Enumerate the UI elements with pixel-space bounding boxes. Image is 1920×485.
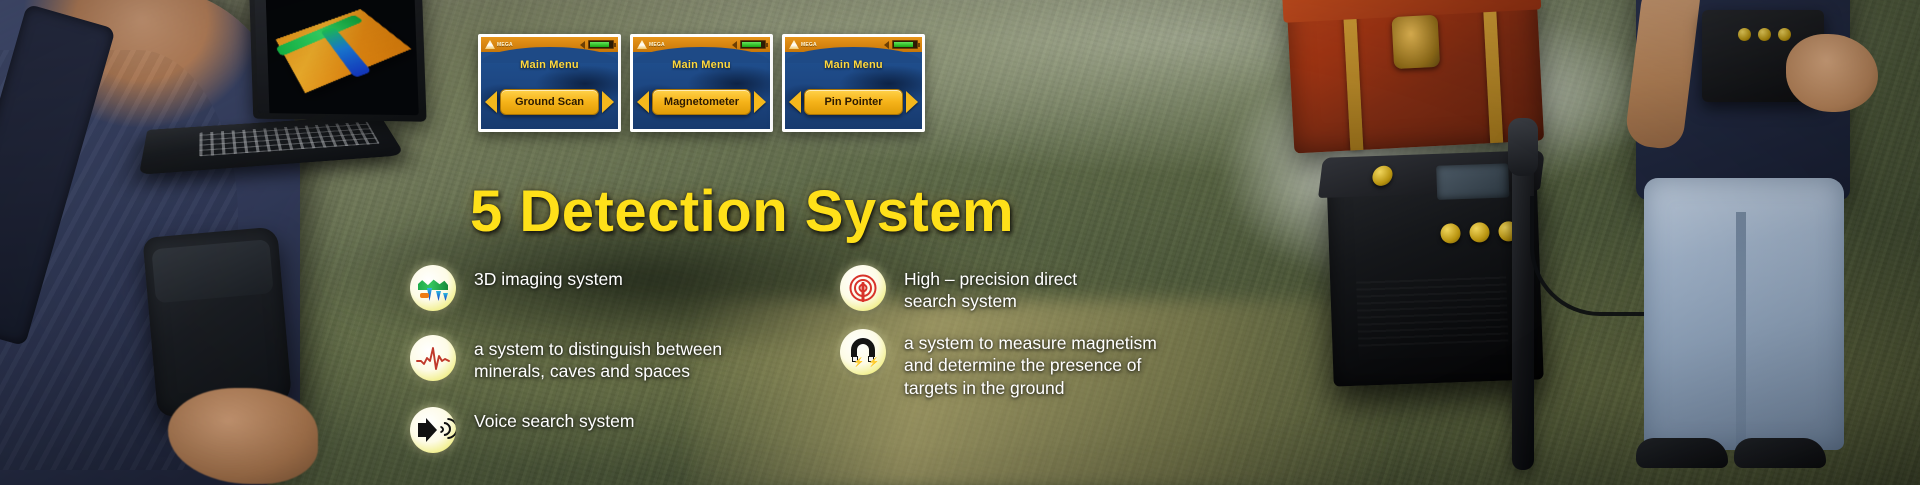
feature-column-left: 3D imaging system a system to distinguis… [410,265,782,453]
signal-target-icon [840,265,886,311]
screen-status-bar: MEGA [481,37,618,52]
feature-item-3d-imaging: 3D imaging system [410,265,782,311]
speaker-icon [580,41,585,49]
screen-status-bar: MEGA [633,37,770,52]
logo-mark-icon [485,40,495,49]
mode-button[interactable]: Pin Pointer [804,89,903,115]
next-mode-arrow-icon[interactable] [602,91,614,113]
speaker-icon [732,41,737,49]
feature-column-right: High – precision direct search system ⚡ … [840,265,1240,399]
magnet-icon: ⚡ ⚡ [840,329,886,375]
screen-title: Main Menu [785,59,922,71]
feature-label: Voice search system [474,407,634,432]
device-screen-ground-scan[interactable]: MEGA Main Menu Ground Scan [478,34,621,132]
screen-title: Main Menu [481,59,618,71]
brand-logo: MEGA [485,40,513,49]
mode-button[interactable]: Ground Scan [500,89,599,115]
mode-button[interactable]: Magnetometer [652,89,751,115]
logo-mark-icon [789,40,799,49]
feature-list: 3D imaging system a system to distinguis… [410,265,1240,453]
mode-selector-row: Pin Pointer [789,89,918,115]
feature-label: High – precision direct search system [904,265,1077,313]
device-screen-magnetometer[interactable]: MEGA Main Menu Magnetometer [630,34,773,132]
feature-item-mineral-discrimination: a system to distinguish between minerals… [410,335,782,383]
screen-status-bar: MEGA [785,37,922,52]
previous-mode-arrow-icon[interactable] [789,91,801,113]
feature-label: 3D imaging system [474,265,623,290]
feature-label: a system to distinguish between minerals… [474,335,722,383]
status-indicators [580,40,614,49]
speaker-icon [884,41,889,49]
previous-mode-arrow-icon[interactable] [485,91,497,113]
brand-logo: MEGA [789,40,817,49]
screen-title: Main Menu [633,59,770,71]
next-mode-arrow-icon[interactable] [754,91,766,113]
status-indicators [732,40,766,49]
status-indicators [884,40,918,49]
next-mode-arrow-icon[interactable] [906,91,918,113]
mode-selector-row: Ground Scan [485,89,614,115]
mode-selector-row: Magnetometer [637,89,766,115]
device-screen-pin-pointer[interactable]: MEGA Main Menu Pin Pointer [782,34,925,132]
speaker-icon [410,407,456,453]
brand-logo: MEGA [637,40,665,49]
battery-icon [892,40,918,49]
feature-item-voice-search: Voice search system [410,407,782,453]
logo-mark-icon [637,40,647,49]
feature-item-high-precision-search: High – precision direct search system [840,265,1240,313]
3d-terrain-icon [410,265,456,311]
battery-icon [588,40,614,49]
page-title: 5 Detection System [470,178,1014,245]
feature-item-magnetism: ⚡ ⚡ a system to measure magnetism and de… [840,329,1240,399]
battery-icon [740,40,766,49]
banner-stage: MEGA Main Menu Ground Scan MEGA [0,0,1920,485]
previous-mode-arrow-icon[interactable] [637,91,649,113]
device-screen-gallery: MEGA Main Menu Ground Scan MEGA [478,34,925,132]
feature-label: a system to measure magnetism and determ… [904,329,1157,399]
pulse-waveform-icon [410,335,456,381]
